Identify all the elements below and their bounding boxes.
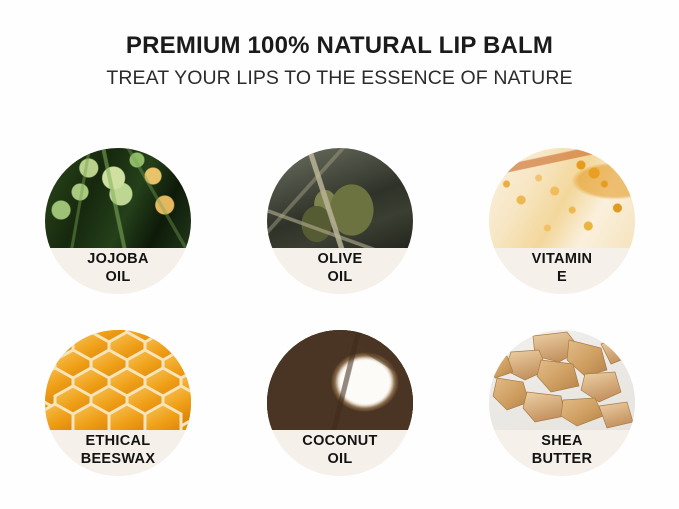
page-subtitle: TREAT YOUR LIPS TO THE ESSENCE OF NATURE (0, 67, 679, 89)
ingredient-label-ethical-beeswax: ETHICAL BEESWAX (45, 430, 191, 476)
page-title: PREMIUM 100% NATURAL LIP BALM (0, 32, 679, 60)
ingredient-badge-olive-oil: OLIVE OIL (267, 148, 413, 294)
ingredient-badge-jojoba-oil: JOJOBA OIL (45, 148, 191, 294)
jojoba-berries-photo (45, 148, 191, 248)
ingredient-label-line1: JOJOBA (87, 251, 148, 269)
olive-branch-photo (267, 148, 413, 248)
ingredient-grid: JOJOBA OIL OLIVE OIL VITAMIN E (45, 148, 635, 476)
ingredient-label-olive-oil: OLIVE OIL (267, 248, 413, 294)
shea-butter-chunks-photo (489, 330, 635, 430)
ingredient-label-line1: COCONUT (302, 433, 377, 451)
ingredient-label-jojoba-oil: JOJOBA OIL (45, 248, 191, 294)
ingredient-label-line2: OIL (327, 451, 352, 469)
ingredient-label-coconut-oil: COCONUT OIL (267, 430, 413, 476)
ingredient-badge-shea-butter: SHEA BUTTER (489, 330, 635, 476)
ingredient-label-line2: BUTTER (532, 451, 593, 469)
ingredient-badge-vitamin-e: VITAMIN E (489, 148, 635, 294)
ingredient-label-line1: OLIVE (317, 251, 362, 269)
coconut-halves-photo (267, 330, 413, 430)
ingredient-badge-ethical-beeswax: ETHICAL BEESWAX (45, 330, 191, 476)
product-infographic: PREMIUM 100% NATURAL LIP BALM TREAT YOUR… (0, 0, 679, 509)
header: PREMIUM 100% NATURAL LIP BALM TREAT YOUR… (0, 32, 679, 89)
ingredient-label-line2: OIL (327, 269, 352, 287)
ingredient-label-line2: E (557, 269, 567, 287)
vitamin-e-amber-photo (489, 148, 635, 248)
ingredient-label-line2: BEESWAX (81, 451, 156, 469)
ingredient-badge-coconut-oil: COCONUT OIL (267, 330, 413, 476)
ingredient-label-line1: ETHICAL (86, 433, 151, 451)
honeycomb-photo (45, 330, 191, 430)
ingredient-label-shea-butter: SHEA BUTTER (489, 430, 635, 476)
ingredient-label-line2: OIL (105, 269, 130, 287)
ingredient-label-line1: VITAMIN (532, 251, 593, 269)
ingredient-label-vitamin-e: VITAMIN E (489, 248, 635, 294)
ingredient-label-line1: SHEA (541, 433, 583, 451)
